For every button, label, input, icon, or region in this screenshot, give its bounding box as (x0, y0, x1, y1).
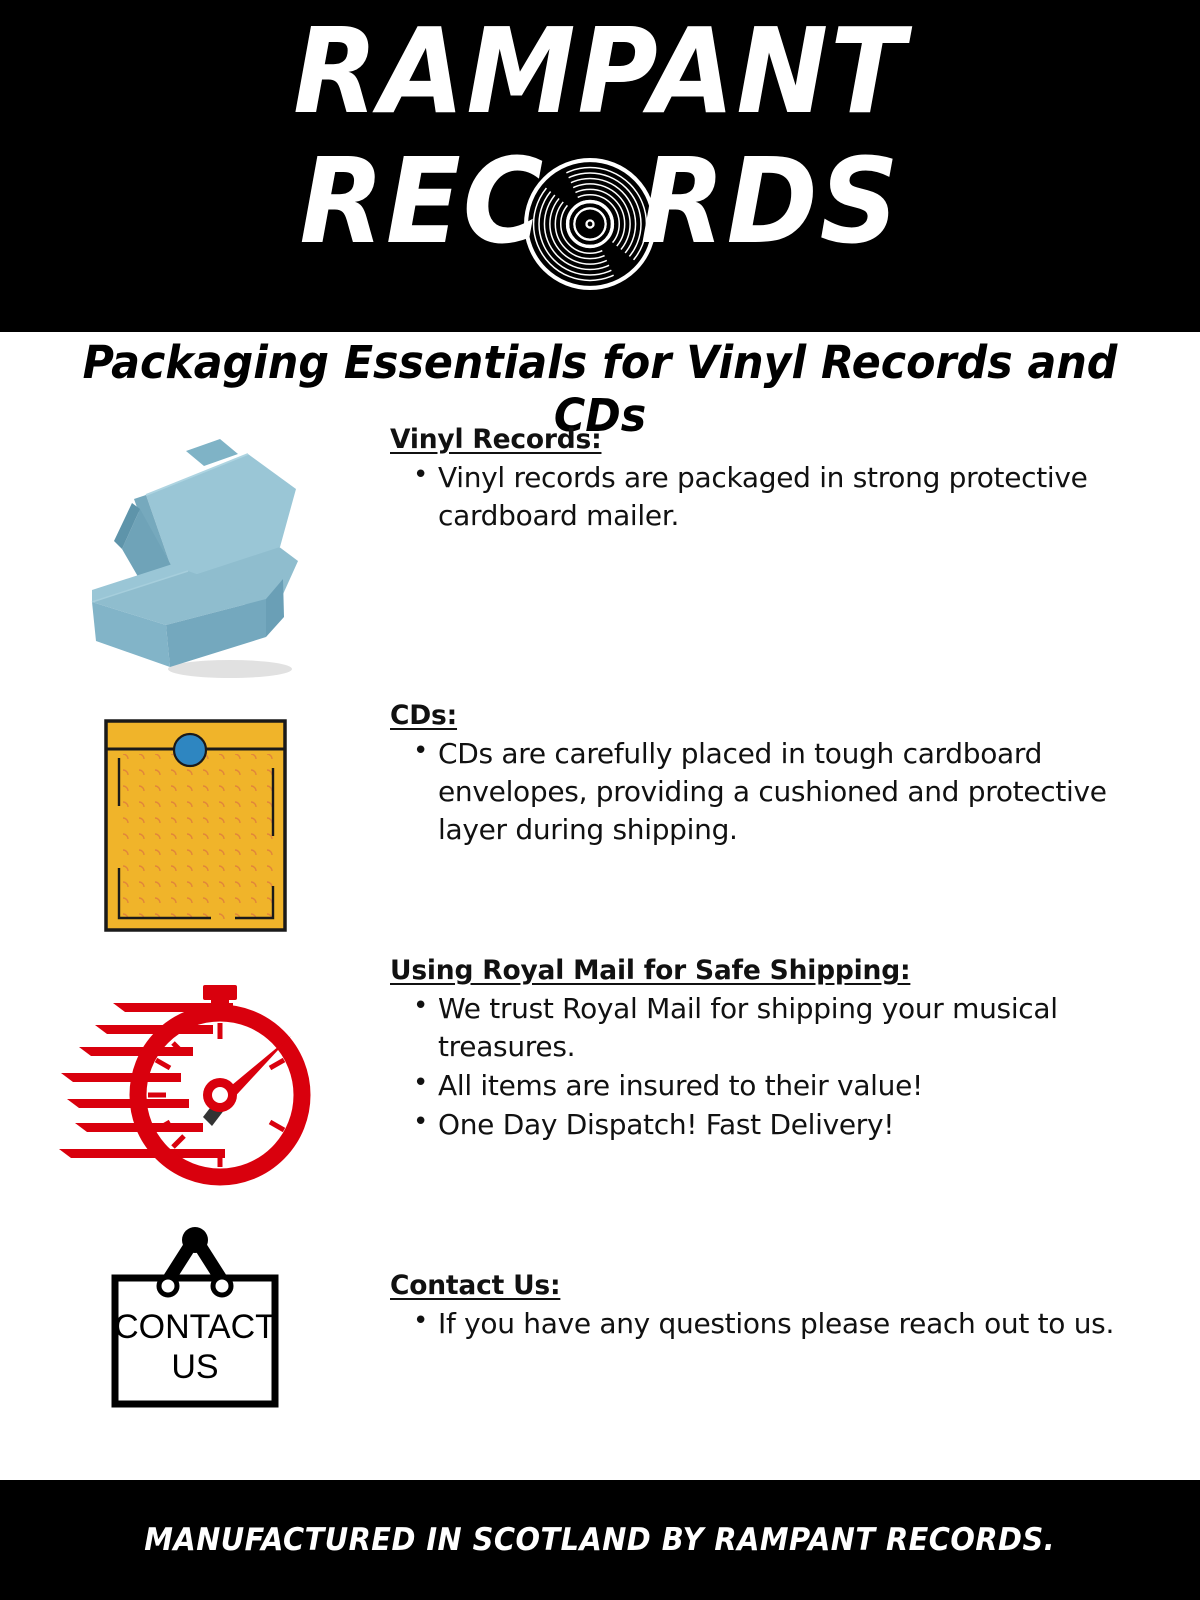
logo-line-one: RAMPANT (42, 10, 1158, 134)
section-bullet-list: Vinyl records are packaged in strong pro… (390, 459, 1180, 535)
list-item: If you have any questions please reach o… (436, 1305, 1180, 1343)
cardboard-mailer-box-icon (70, 429, 320, 684)
section-bullet-list: If you have any questions please reach o… (390, 1305, 1180, 1343)
section-contact-icon-column: CONTACT US (0, 1210, 390, 1410)
section-vinyl-text-column: Vinyl Records: Vinyl records are package… (390, 424, 1200, 536)
section-contact-us: CONTACT US Contact Us: If you have any q… (0, 1210, 1200, 1410)
section-bullet-list: We trust Royal Mail for shipping your mu… (390, 990, 1180, 1144)
list-item: One Day Dispatch! Fast Delivery! (436, 1106, 1180, 1144)
header-banner: RAMPANT RECORDS (0, 0, 1200, 332)
logo-text-before-vinyl: REC (300, 132, 546, 270)
list-item: Vinyl records are packaged in strong pro… (436, 459, 1180, 535)
list-item: CDs are carefully placed in tough cardbo… (436, 735, 1180, 849)
section-vinyl-icon-column (0, 424, 390, 684)
section-heading: CDs: (390, 700, 1180, 731)
section-royal-icon-column (0, 955, 390, 1188)
section-heading: Vinyl Records: (390, 424, 1180, 455)
section-heading: Using Royal Mail for Safe Shipping: (390, 955, 1180, 986)
section-cds: CDs: CDs are carefully placed in tough c… (0, 700, 1200, 933)
contact-us-sign-icon: CONTACT US (95, 1220, 295, 1410)
logo-text-after-vinyl: RDS (640, 132, 900, 270)
footer-text: MANUFACTURED IN SCOTLAND BY RAMPANT RECO… (145, 1522, 1056, 1558)
section-royal-mail: Using Royal Mail for Safe Shipping: We t… (0, 955, 1200, 1188)
padded-envelope-icon (103, 718, 288, 933)
section-cds-icon-column (0, 700, 390, 933)
section-heading: Contact Us: (390, 1270, 1180, 1301)
fast-stopwatch-icon (53, 963, 318, 1188)
section-contact-text-column: Contact Us: If you have any questions pl… (390, 1210, 1200, 1344)
section-vinyl-records: Vinyl Records: Vinyl records are package… (0, 424, 1200, 684)
footer-banner: MANUFACTURED IN SCOTLAND BY RAMPANT RECO… (0, 1480, 1200, 1600)
list-item: All items are insured to their value! (436, 1067, 1180, 1105)
section-royal-text-column: Using Royal Mail for Safe Shipping: We t… (390, 955, 1200, 1145)
logo-line-two: RECORDS (0, 140, 1200, 310)
sign-text-line-two: US (171, 1348, 218, 1386)
section-bullet-list: CDs are carefully placed in tough cardbo… (390, 735, 1180, 849)
section-cds-text-column: CDs: CDs are carefully placed in tough c… (390, 700, 1200, 850)
list-item: We trust Royal Mail for shipping your mu… (436, 990, 1180, 1066)
vinyl-record-icon (522, 156, 658, 292)
sign-text-line-one: CONTACT (114, 1308, 276, 1346)
